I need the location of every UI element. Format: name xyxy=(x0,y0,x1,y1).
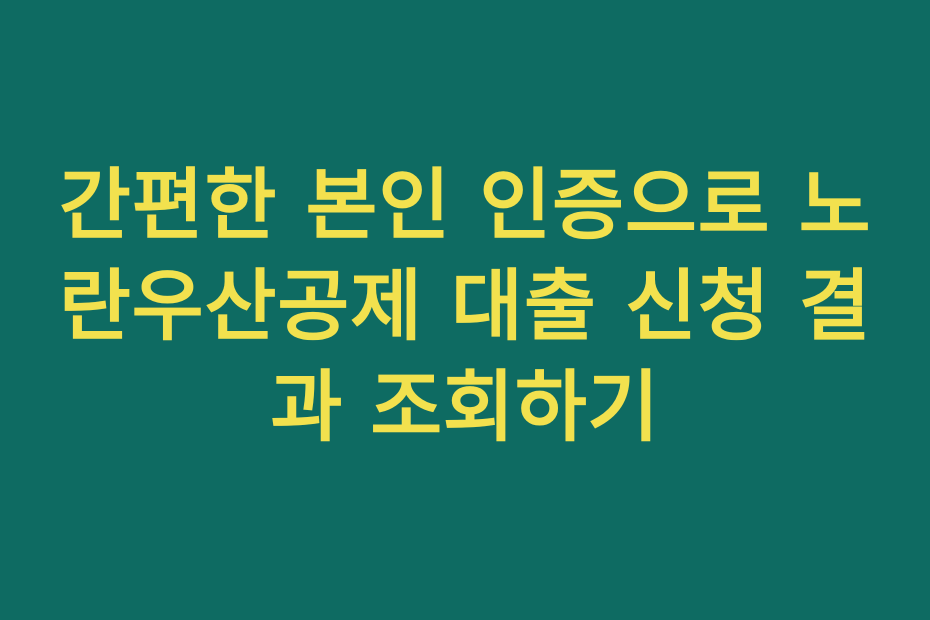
title-glyph: 인 xyxy=(378,156,450,257)
title-glyph: 제 xyxy=(350,257,422,358)
title-glyph: 공 xyxy=(277,257,349,358)
title-line-3: 과 조회하기 xyxy=(59,358,871,459)
title-glyph: 결 xyxy=(799,257,871,358)
title-glyph: 대 xyxy=(451,257,523,358)
title-card-canvas: 간편한 본인 인증으로 노 란우산공제 대출 신청 결 과 조회하기 xyxy=(0,0,930,620)
title-glyph: 란 xyxy=(59,257,131,358)
title-glyph: 증 xyxy=(552,156,624,257)
title-glyph: 청 xyxy=(698,257,770,358)
title-glyph: 출 xyxy=(524,257,596,358)
title-glyph: 노 xyxy=(799,156,871,257)
title-glyph-space xyxy=(771,257,799,358)
title-glyph-space xyxy=(597,257,625,358)
page-title: 간편한 본인 인증으로 노 란우산공제 대출 신청 결 과 조회하기 xyxy=(59,156,871,465)
title-glyph: 한 xyxy=(205,156,277,257)
title-glyph-space xyxy=(771,156,799,257)
title-glyph: 산 xyxy=(205,257,277,358)
title-line-1: 간편한 본인 인증으로 노 xyxy=(59,156,871,257)
title-glyph-space xyxy=(277,156,305,257)
title-glyph: 으 xyxy=(625,156,697,257)
title-glyph: 우 xyxy=(132,257,204,358)
title-glyph: 인 xyxy=(479,156,551,257)
title-line-2: 란우산공제 대출 신청 결 xyxy=(59,257,871,358)
title-glyph: 간 xyxy=(59,156,131,257)
title-glyph: 편 xyxy=(132,156,204,257)
title-glyph: 본 xyxy=(306,156,378,257)
title-glyph: 로 xyxy=(698,156,770,257)
title-glyph: 신 xyxy=(625,257,697,358)
title-glyph-space xyxy=(423,257,451,358)
title-glyph-space xyxy=(451,156,479,257)
